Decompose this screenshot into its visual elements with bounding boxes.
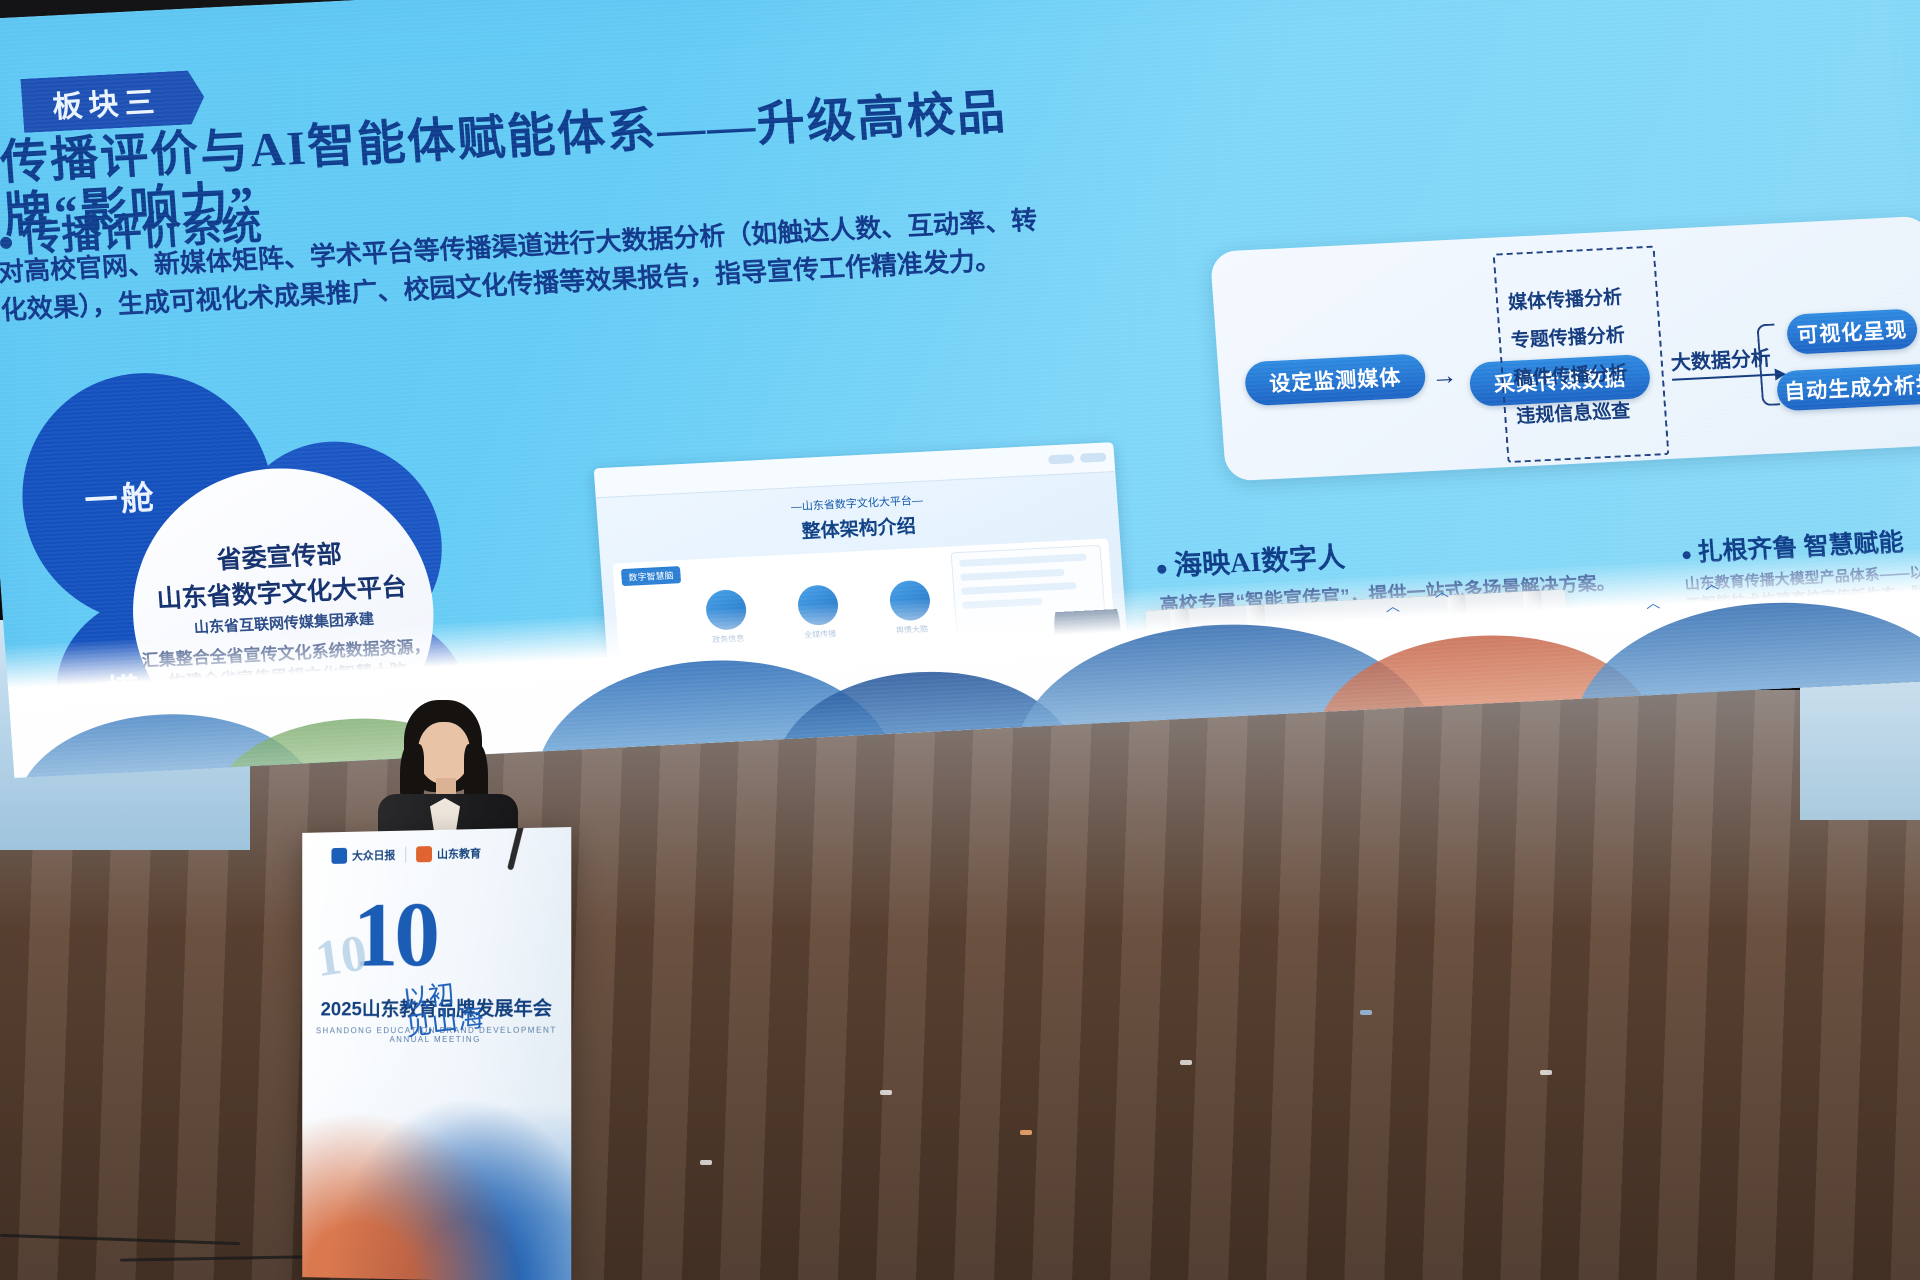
- brand-right-label: 山东教育: [437, 845, 481, 862]
- circle-label-1: 一舱: [83, 471, 158, 523]
- flow-arrow-icon: →: [1430, 360, 1458, 392]
- podium-calligraphy: 以初 见山海: [401, 977, 485, 1041]
- chat-line: [960, 569, 1064, 581]
- section-tag: 板块三: [20, 70, 206, 133]
- ai-human-heading-label: 海映AI数字人: [1173, 543, 1346, 583]
- bird-icon: ︿: [1645, 593, 1660, 614]
- bird-icon: ︿: [1385, 596, 1400, 617]
- confetti: [700, 1160, 712, 1165]
- analysis-item-3: 稿件传播分析: [1513, 356, 1663, 390]
- header-pill: [1080, 452, 1107, 462]
- analysis-item-4: 违规信息巡查: [1515, 394, 1665, 428]
- podium-big-number: 10: [353, 896, 571, 972]
- bullet-dot-icon: [0, 236, 12, 249]
- brand-left: 大众日报: [331, 847, 395, 864]
- podium-ghost-number: 10: [312, 924, 370, 989]
- chat-line: [959, 554, 1087, 567]
- panel-tag: 数字智慧脑: [621, 566, 681, 586]
- analysis-item-1: 媒体传播分析: [1507, 280, 1657, 314]
- led-screen: 板块三 传播评价与AI智能体赋能体系——升级高校品牌“影响力” 传播评价系统 对…: [0, 0, 1920, 778]
- flow-output-visualize: 可视化呈现: [1786, 308, 1919, 354]
- confetti: [1180, 1060, 1192, 1065]
- flow-output-report: 自动生成分析报告: [1776, 362, 1920, 412]
- brand-right: 山东教育: [416, 845, 481, 862]
- confetti: [880, 1090, 892, 1095]
- confetti: [1360, 1010, 1372, 1015]
- analysis-dashed-box: 媒体传播分析 专题传播分析 稿件传播分析 违规信息巡查: [1493, 245, 1670, 463]
- confetti: [1020, 1130, 1032, 1135]
- brand-mark-icon: [331, 848, 347, 864]
- speaker-face: [418, 722, 470, 784]
- bullet-dot-icon: [1157, 565, 1167, 574]
- bird-icon: ︿: [1434, 581, 1449, 602]
- photo-scene: 板块三 传播评价与AI智能体赋能体系——升级高校品牌“影响力” 传播评价系统 对…: [0, 0, 1920, 1280]
- confetti: [1540, 1070, 1552, 1075]
- logo-divider: [405, 847, 406, 863]
- brand-mark-icon: [416, 846, 432, 862]
- flow-edge-label: 大数据分析: [1670, 342, 1772, 376]
- flow-node-set-media: 设定监测媒体: [1244, 353, 1427, 406]
- podium-logo-row: 大众日报 山东教育: [302, 827, 571, 864]
- bird-icon: ︿: [1704, 574, 1719, 595]
- flow-diagram-card: 设定监测媒体 → 采集传媒数据 大数据分析 媒体传播分析 专题传播分析 稿件传播…: [1210, 216, 1920, 482]
- analysis-item-2: 专题传播分析: [1510, 318, 1660, 352]
- speaking-podium: 大众日报 山东教育 10 10 以初 见山海 2025山东教育品牌发展年会 SH…: [302, 827, 571, 1280]
- brand-left-label: 大众日报: [352, 847, 395, 864]
- header-pill: [1048, 454, 1075, 464]
- podium-ink-art: [302, 1065, 571, 1280]
- presentation-slide: 板块三 传播评价与AI智能体赋能体系——升级高校品牌“影响力” 传播评价系统 对…: [0, 0, 1920, 778]
